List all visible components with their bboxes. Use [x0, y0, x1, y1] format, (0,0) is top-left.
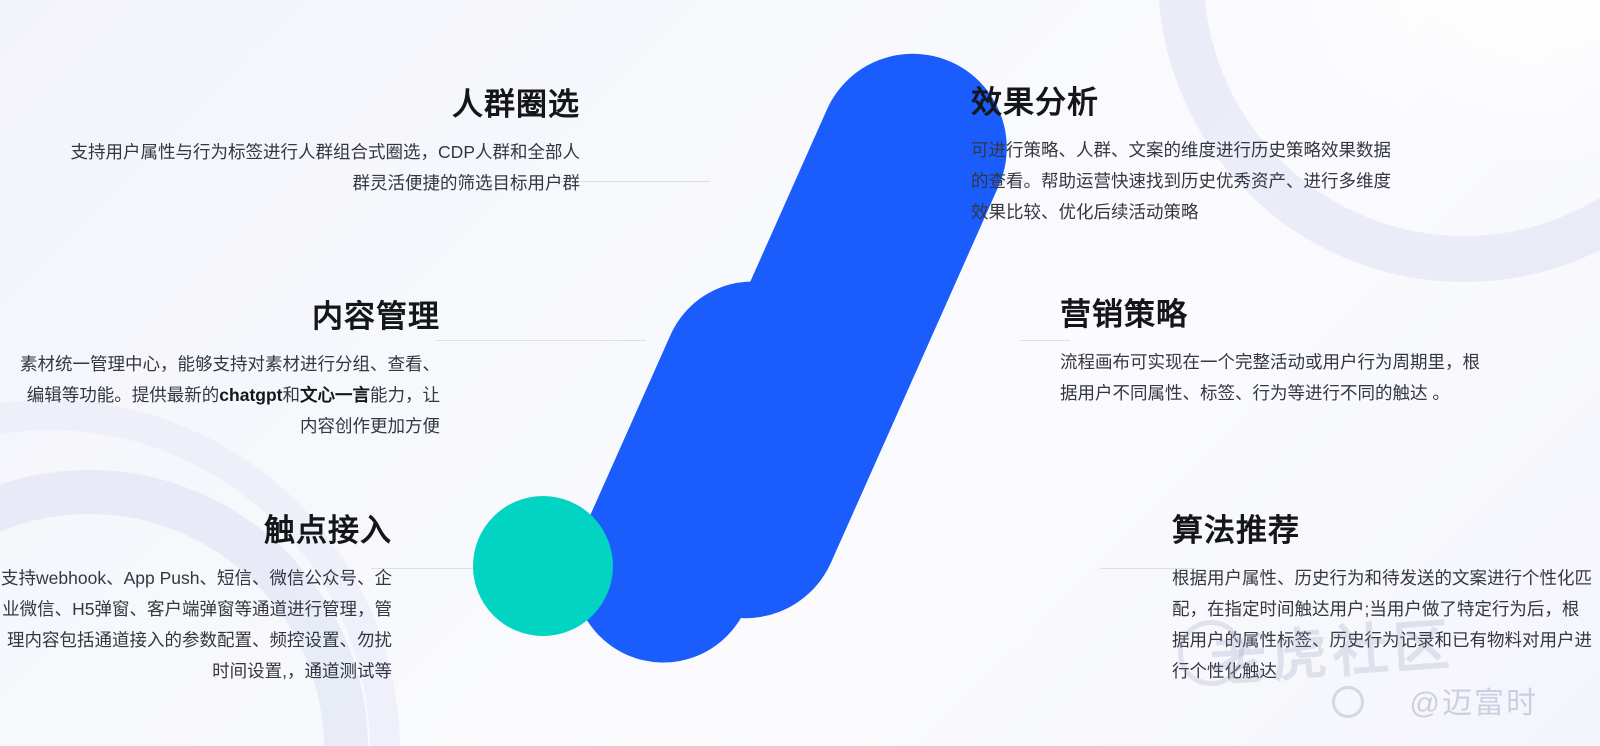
feature-touchpoint-access: 触点接入 支持webhook、App Push、短信、微信公众号、企业微信、H5… [0, 512, 392, 687]
feature-algorithm-description: 根据用户属性、历史行为和待发送的文案进行个性化匹配，在指定时间触达用户;当用户做… [1172, 563, 1592, 687]
infographic-canvas: 人群圈选 支持用户属性与行为标签进行人群组合式圈选，CDP人群和全部人群灵活便捷… [0, 0, 1600, 746]
feature-algorithm-recommendation: 算法推荐 根据用户属性、历史行为和待发送的文案进行个性化匹配，在指定时间触达用户… [1172, 512, 1592, 687]
feature-crowd-description: 支持用户属性与行为标签进行人群组合式圈选，CDP人群和全部人群灵活便捷的筛选目标… [60, 137, 580, 199]
logo-teal-dot [473, 496, 613, 636]
watermark-secondary-icon [1332, 686, 1364, 718]
logo-bar-lower [544, 253, 871, 692]
feature-algorithm-title: 算法推荐 [1172, 512, 1592, 549]
feature-content-title: 内容管理 [10, 298, 440, 335]
feature-touchpoint-title: 触点接入 [0, 512, 392, 549]
feature-marketing-description: 流程画布可实现在一个完整活动或用户行为周期里，根据用户不同属性、标签、行为等进行… [1060, 347, 1480, 409]
feature-content-management: 内容管理 素材统一管理中心，能够支持对素材进行分组、查看、编辑等功能。提供最新的… [10, 298, 440, 442]
feature-crowd-desc-line1: 支持用户属性与行为标签进行人群组合式圈选，CDP人 [71, 142, 493, 162]
feature-effect-analysis: 效果分析 可进行策略、人群、文案的维度进行历史策略效果数据的查看。帮助运营快速找… [971, 84, 1401, 228]
feature-content-description: 素材统一管理中心，能够支持对素材进行分组、查看、编辑等功能。提供最新的chatg… [10, 349, 440, 442]
feature-marketing-strategy: 营销策略 流程画布可实现在一个完整活动或用户行为周期里，根据用户不同属性、标签、… [1060, 296, 1480, 409]
feature-crowd-selection: 人群圈选 支持用户属性与行为标签进行人群组合式圈选，CDP人群和全部人群灵活便捷… [60, 86, 580, 199]
feature-crowd-title: 人群圈选 [60, 86, 580, 123]
feature-effect-title: 效果分析 [971, 84, 1401, 121]
feature-content-desc-bold2: 文心一言 [300, 385, 370, 405]
connector-line-content [436, 340, 646, 341]
feature-marketing-title: 营销策略 [1060, 296, 1480, 333]
connector-line-crowd [560, 181, 710, 182]
feature-touchpoint-description: 支持webhook、App Push、短信、微信公众号、企业微信、H5弹窗、客户… [0, 563, 392, 687]
feature-content-desc-part2: 和 [283, 385, 301, 405]
feature-content-desc-bold1: chatgpt [219, 385, 282, 405]
feature-effect-description: 可进行策略、人群、文案的维度进行历史策略效果数据的查看。帮助运营快速找到历史优秀… [971, 135, 1401, 228]
